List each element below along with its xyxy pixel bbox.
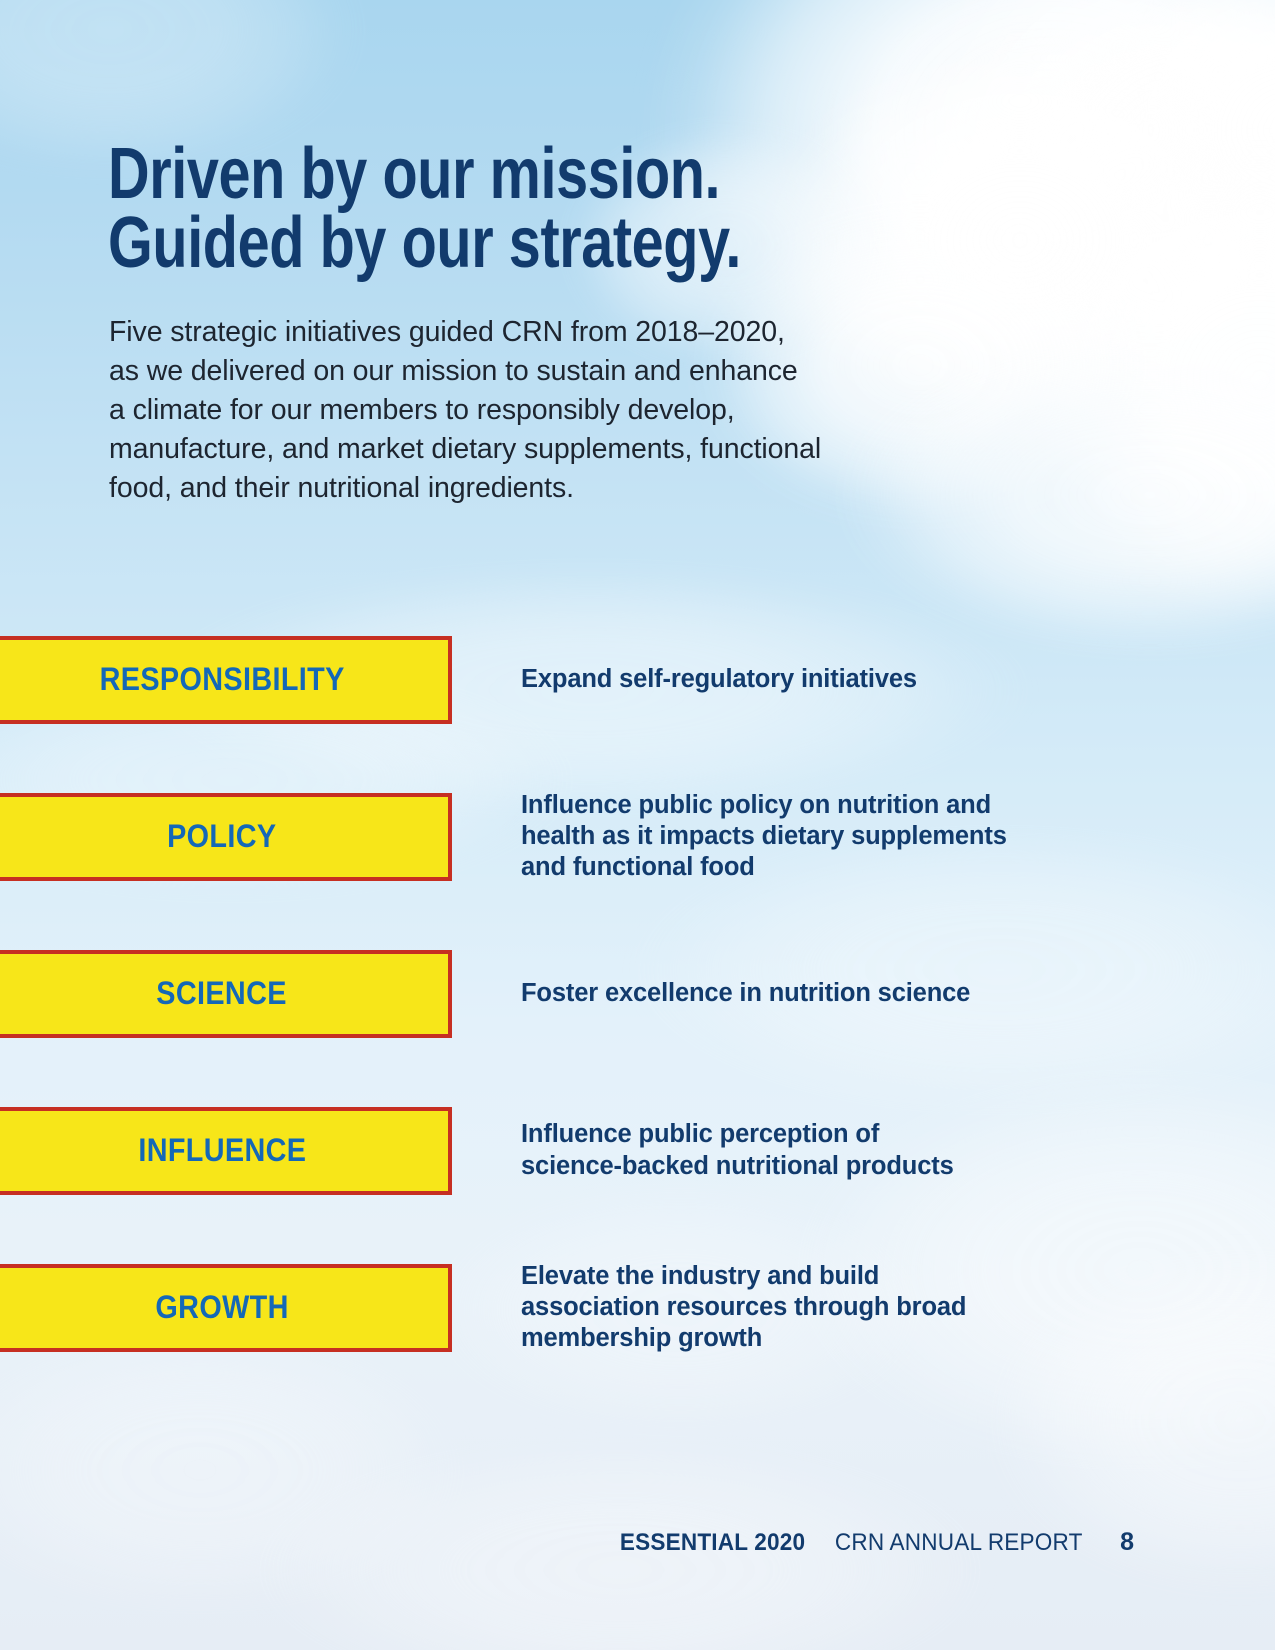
strategy-description-line: membership growth <box>521 1323 1161 1354</box>
intro-paragraph: Five strategic initiatives guided CRN fr… <box>109 313 1009 508</box>
annual-report-page: Driven by our mission. Guided by our str… <box>0 0 1275 1650</box>
page-footer: ESSENTIAL 2020 CRN ANNUAL REPORT 8 <box>0 1528 1275 1557</box>
footer-report-subtitle: CRN ANNUAL REPORT <box>835 1529 1083 1557</box>
strategy-tag-label: RESPONSIBILITY <box>99 661 344 698</box>
strategy-row: SCIENCE Foster excellence in nutrition s… <box>0 915 1275 1072</box>
intro-line-2: as we delivered on our mission to sustai… <box>109 352 1009 391</box>
strategy-description-line: and functional food <box>521 852 1161 883</box>
strategy-tag-responsibility: RESPONSIBILITY <box>0 636 452 724</box>
intro-line-4: manufacture, and market dietary suppleme… <box>109 430 1009 469</box>
intro-line-5: food, and their nutritional ingredients. <box>109 469 1009 508</box>
footer-report-title: ESSENTIAL 2020 <box>619 1529 804 1557</box>
strategy-tag-label: SCIENCE <box>157 975 288 1012</box>
strategy-description: Elevate the industry and build associati… <box>521 1261 1161 1354</box>
strategy-description: Influence public perception of science-b… <box>521 1119 1161 1181</box>
strategy-description-line: association resources through broad <box>521 1292 1161 1323</box>
page-title-line-2: Guided by our strategy. <box>108 209 741 278</box>
strategy-tag-science: SCIENCE <box>0 950 452 1038</box>
strategy-list: RESPONSIBILITY Expand self-regulatory in… <box>0 601 1275 1386</box>
strategy-tag-policy: POLICY <box>0 793 452 881</box>
strategy-description-line: Influence public policy on nutrition and <box>521 790 1161 821</box>
strategy-description: Influence public policy on nutrition and… <box>521 790 1161 883</box>
strategy-row: GROWTH Elevate the industry and build as… <box>0 1229 1275 1386</box>
strategy-description-line: Expand self-regulatory initiatives <box>521 664 1161 695</box>
intro-line-1: Five strategic initiatives guided CRN fr… <box>109 313 1009 352</box>
strategy-row: INFLUENCE Influence public perception of… <box>0 1072 1275 1229</box>
strategy-tag-influence: INFLUENCE <box>0 1107 452 1195</box>
strategy-description-line: Influence public perception of <box>521 1119 1161 1150</box>
strategy-description-line: health as it impacts dietary supplements <box>521 821 1161 852</box>
strategy-row: POLICY Influence public policy on nutrit… <box>0 758 1275 915</box>
page-title-line-1: Driven by our mission. <box>108 140 741 209</box>
strategy-description-line: Elevate the industry and build <box>521 1261 1161 1292</box>
intro-line-3: a climate for our members to responsibly… <box>109 391 1009 430</box>
page-number: 8 <box>1120 1528 1134 1557</box>
strategy-description: Foster excellence in nutrition science <box>521 978 1161 1009</box>
strategy-tag-label: GROWTH <box>155 1289 288 1326</box>
strategy-description-line: science-backed nutritional products <box>521 1151 1161 1182</box>
strategy-tag-growth: GROWTH <box>0 1264 452 1352</box>
strategy-description-line: Foster excellence in nutrition science <box>521 978 1161 1009</box>
page-content: Driven by our mission. Guided by our str… <box>0 0 1275 1650</box>
strategy-tag-label: INFLUENCE <box>138 1132 306 1169</box>
strategy-description: Expand self-regulatory initiatives <box>521 664 1161 695</box>
page-title: Driven by our mission. Guided by our str… <box>108 140 741 278</box>
strategy-tag-label: POLICY <box>167 818 276 855</box>
strategy-row: RESPONSIBILITY Expand self-regulatory in… <box>0 601 1275 758</box>
